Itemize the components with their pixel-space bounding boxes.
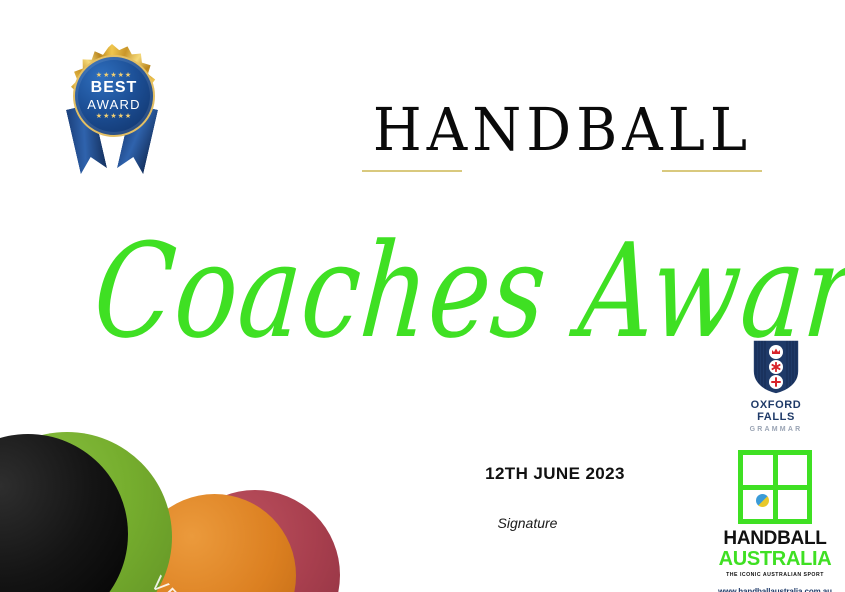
ofg-line-oxford: OXFORD <box>740 399 812 411</box>
oxford-falls-shield-icon <box>751 338 801 396</box>
rosette-best-label: BEST <box>91 79 138 97</box>
ofg-line-grammar: GRAMMAR <box>740 426 812 433</box>
best-award-rosette-icon: ★★★★★ BEST AWARD ★★★★★ <box>58 44 166 176</box>
rosette-stars-bottom: ★★★★★ <box>96 113 132 120</box>
page-title: HANDBALL <box>355 103 770 159</box>
black-handball <box>0 434 128 592</box>
rosette-stars-top: ★★★★★ <box>96 72 132 79</box>
rosette-center: ★★★★★ BEST AWARD ★★★★★ <box>73 55 155 137</box>
hba-tagline: THE ICONIC AUSTRALIAN SPORT <box>717 572 833 578</box>
court-ball-icon <box>756 494 769 507</box>
certificate-canvas: VERAO VERAO ★★★★★ BEST AWARD ★★★★★ HANDB… <box>0 0 845 592</box>
green-handball <box>0 432 172 592</box>
award-date: 12TH JUNE 2023 <box>440 464 670 484</box>
hba-line-handball: HANDBALL <box>717 529 833 548</box>
court-divider-horizontal <box>743 485 807 490</box>
handball-australia-logo: HANDBALL AUSTRALIA THE ICONIC AUSTRALIAN… <box>717 450 833 592</box>
rosette-award-label: AWARD <box>87 97 140 113</box>
signature-label: Signature <box>440 515 615 531</box>
crimson-handball <box>170 490 340 592</box>
decorative-handballs: VERAO VERAO <box>0 422 360 592</box>
orange-handball-brand-text: VERAO <box>145 572 220 592</box>
hba-website-url: www.handballaustralia.com.au <box>717 587 833 592</box>
script-heading: Coaches Awards <box>85 172 765 410</box>
hba-line-australia: AUSTRALIA <box>717 549 833 569</box>
oxford-falls-logo: OXFORD FALLS GRAMMAR <box>740 338 812 433</box>
handball-australia-court-icon <box>738 450 812 524</box>
ofg-line-falls: FALLS <box>740 411 812 423</box>
title-text: HANDBALL <box>355 101 770 160</box>
orange-handball <box>133 494 296 592</box>
